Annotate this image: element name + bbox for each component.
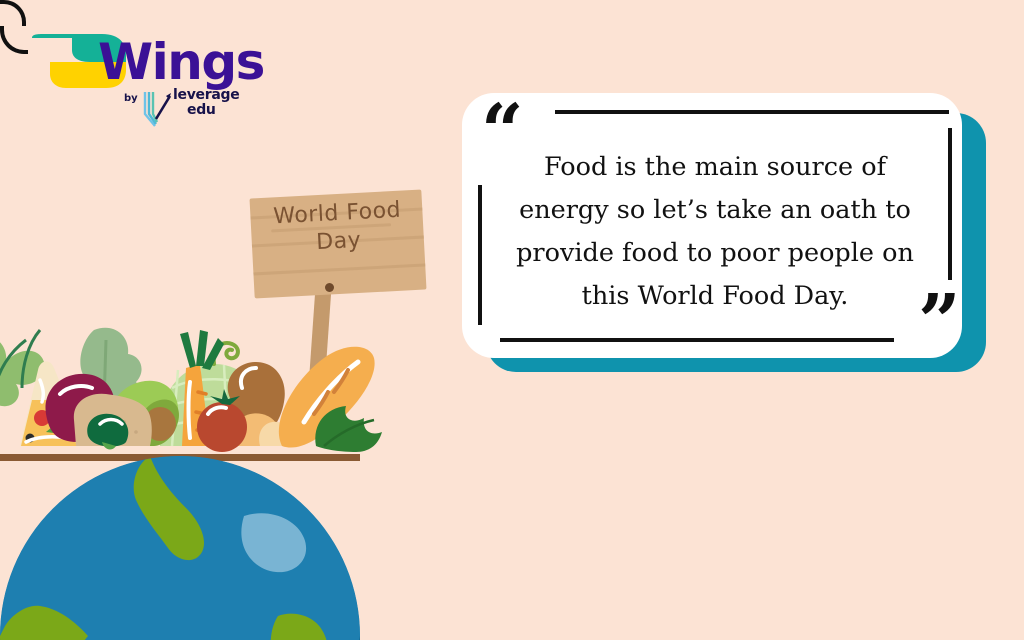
sign-text: World Food Day [251, 196, 426, 261]
poster-canvas: Wings by leverage edu “ ” Food is the ma… [0, 0, 1024, 640]
food-illustration [0, 296, 394, 458]
globe-graphics [0, 456, 360, 640]
earth-bowl-illustration [0, 296, 394, 640]
leverage-edu-lockup[interactable]: leverage edu [142, 84, 252, 128]
wings-logo[interactable]: Wings by leverage edu [24, 22, 254, 132]
quote-frame-bottom [500, 338, 894, 342]
earth-globe-bowl [0, 456, 360, 640]
leverage-edu-line2: edu [173, 103, 239, 118]
sign-nail [325, 283, 334, 292]
quote-frame-top [555, 110, 949, 114]
leverage-edu-text: leverage edu [173, 88, 239, 118]
leverage-edu-book-icon [142, 88, 172, 128]
quote-text: Food is the main source of energy so let… [500, 146, 930, 318]
wings-wordmark: Wings [98, 37, 264, 87]
food-group [0, 296, 394, 458]
leverage-edu-line1: leverage [173, 87, 239, 103]
quote-frame-left [478, 185, 482, 325]
quote-frame-right [948, 128, 952, 280]
logo-by-label: by [124, 93, 138, 104]
quote-frame-top-right-corner [0, 0, 26, 26]
